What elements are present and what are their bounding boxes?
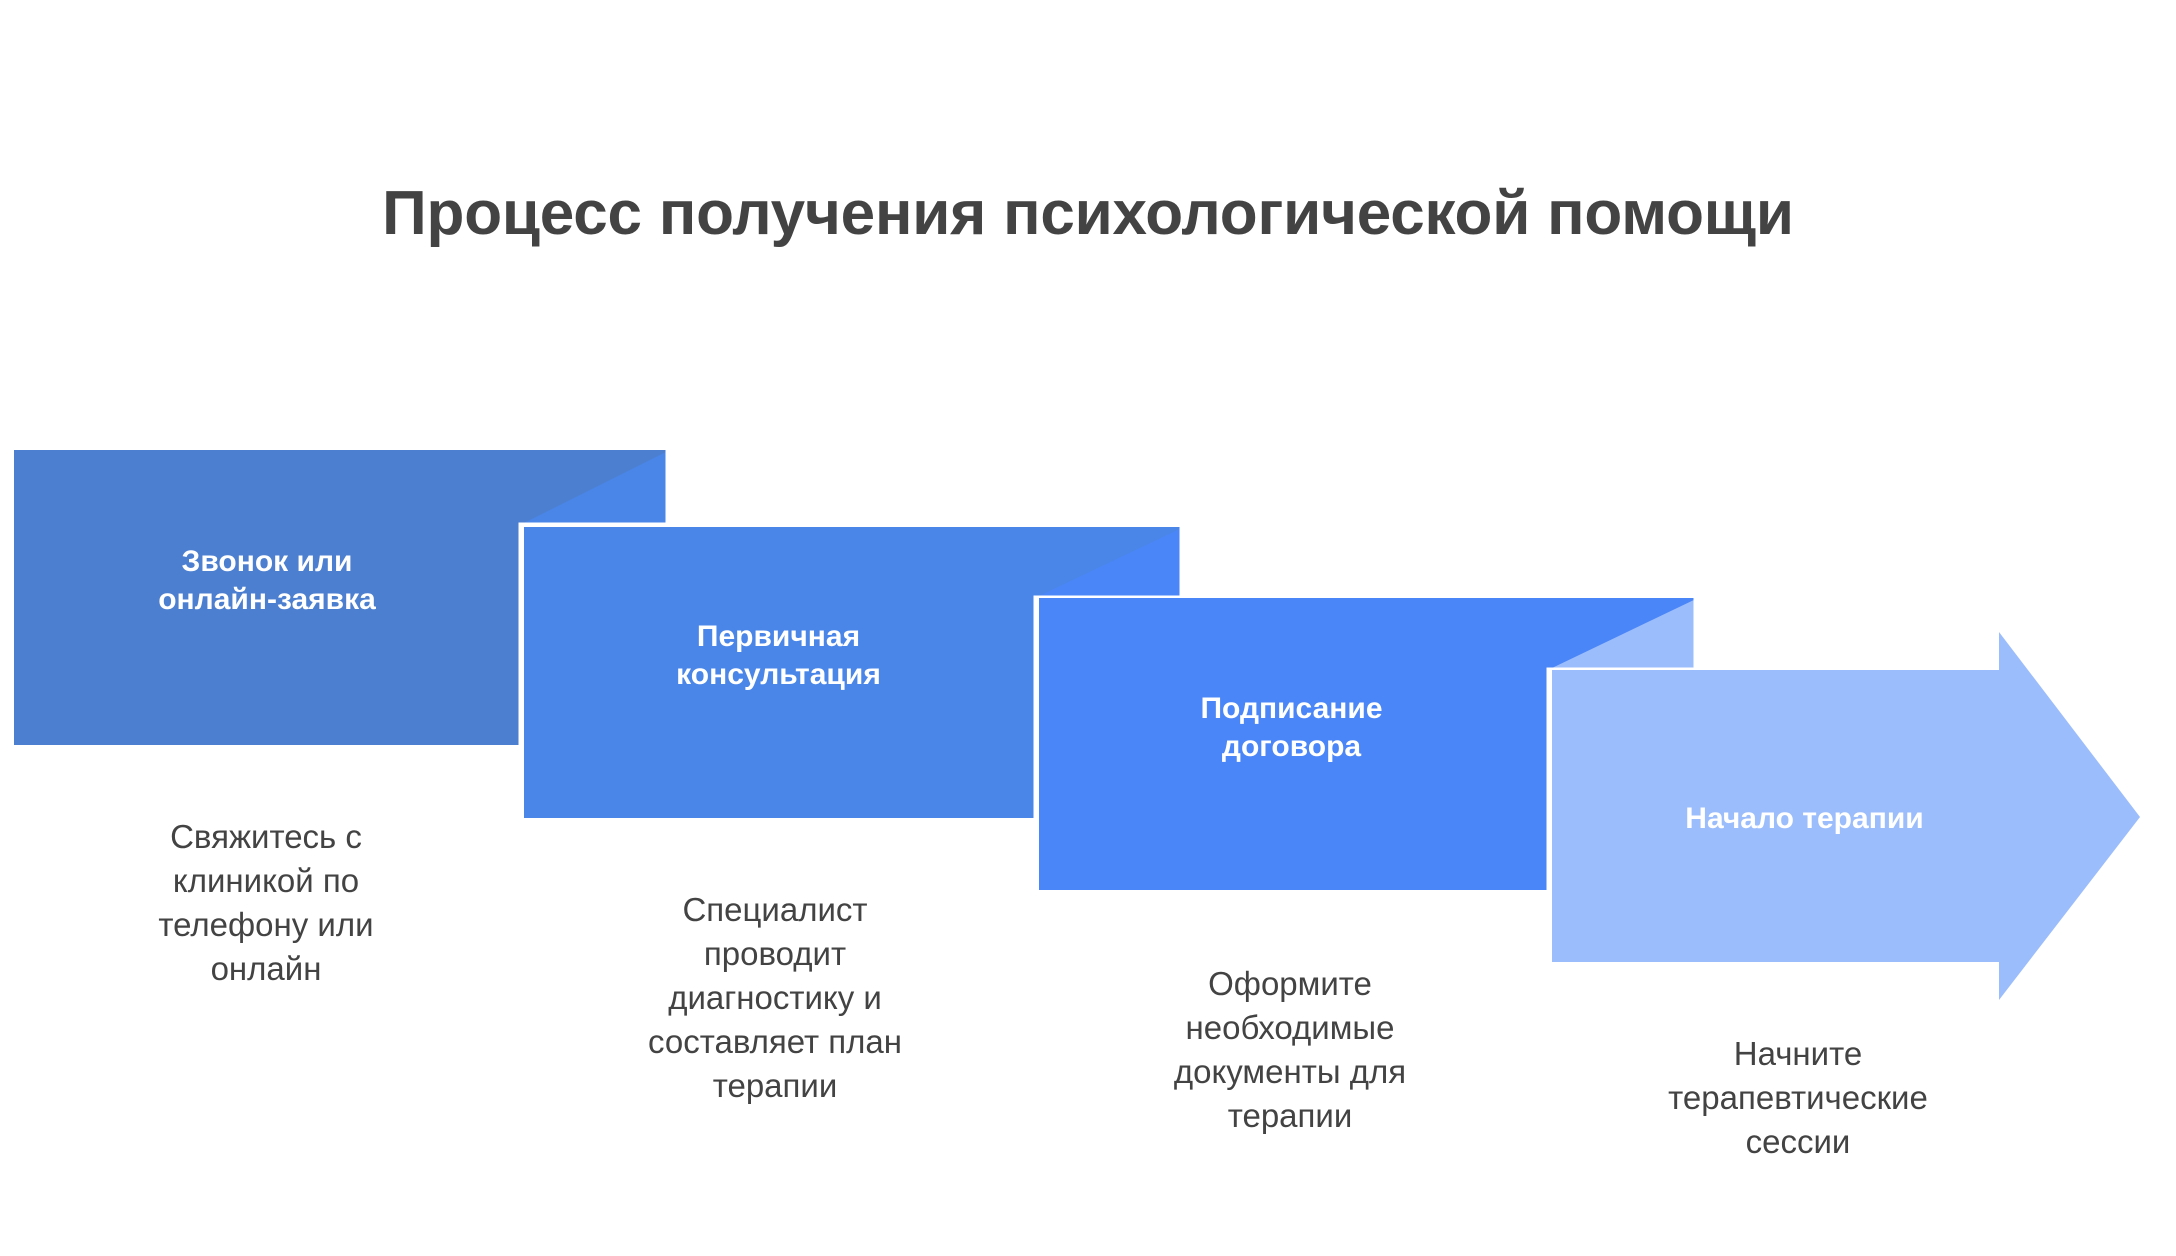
step-1-description: Свяжитесь с клиникой по телефону или онл… [36,815,496,991]
step-3-description: Оформите необходимые документы для терап… [1060,962,1520,1138]
step-2-description: Специалист проводит диагностику и состав… [545,888,1005,1107]
step-3-title: Подписание договора [1035,690,1548,767]
step-1-title: Звонок или онлайн-заявка [14,543,520,620]
step-2-title: Первичная консультация [522,618,1035,695]
step-4-description: Начните терапевтические сессии [1568,1032,2028,1164]
process-step-4[interactable] [1549,596,2140,1000]
step-4-title: Начало терапии [1548,800,2061,838]
slide-canvas: Процесс получения психологической помощи [0,0,2176,1256]
page-title: Процесс получения психологической помощи [0,180,2176,248]
